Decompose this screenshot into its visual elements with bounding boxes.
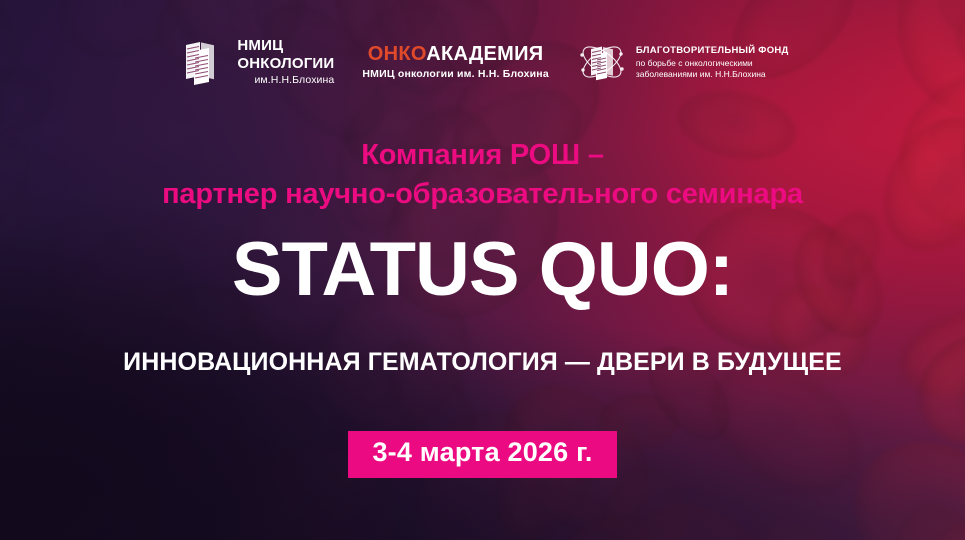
banner-content: Компания РОШ – партнер научно-образовате…: [0, 0, 965, 540]
partner-kicker: Компания РОШ – партнер научно-образовате…: [0, 136, 965, 213]
event-subtitle: ИННОВАЦИОННАЯ ГЕМАТОЛОГИЯ — ДВЕРИ В БУДУ…: [0, 350, 965, 375]
partner-kicker-line1: Компания РОШ –: [361, 139, 604, 171]
event-date-wrap: 3-4 марта 2026 г.: [0, 431, 965, 478]
event-date-badge: 3-4 марта 2026 г.: [348, 431, 616, 478]
event-title: STATUS QUO:: [0, 232, 965, 308]
event-banner: НМИЦ ОНКОЛОГИИ им.Н.Н.Блохина ОНКОАКАДЕМ…: [0, 0, 965, 540]
partner-kicker-line2: партнер научно-образовательного семинара: [0, 175, 965, 214]
